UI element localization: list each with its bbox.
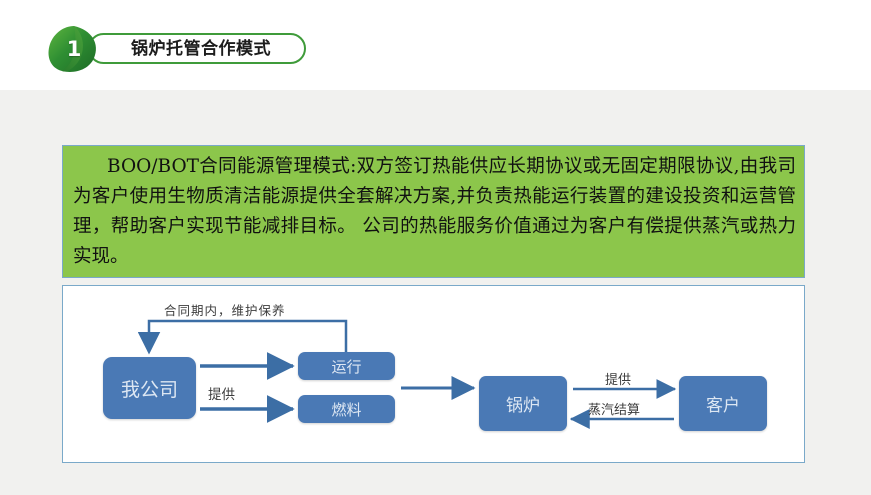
node-customer-label: 客户	[706, 391, 740, 416]
node-my-company[interactable]: 我公司	[103, 357, 196, 419]
node-operation-label: 运行	[331, 356, 361, 377]
summary-box: BOO/BOT合同能源管理模式:双方签订热能供应长期协议或无固定期限协议,由我司…	[62, 145, 805, 278]
edge-label-supply-left: 提供	[208, 383, 235, 403]
node-fuel[interactable]: 燃料	[298, 395, 395, 423]
slide-header: 1 锅炉托管合作模式	[44, 24, 324, 74]
edge-label-supply-right: 提供	[605, 369, 631, 388]
summary-paragraph: BOO/BOT合同能源管理模式:双方签订热能供应长期协议或无固定期限协议,由我司…	[73, 152, 796, 272]
node-boiler-label: 锅炉	[506, 391, 540, 416]
node-fuel-label: 燃料	[331, 399, 361, 420]
node-my-company-label: 我公司	[121, 375, 178, 402]
node-boiler[interactable]: 锅炉	[479, 376, 567, 431]
page-title: 锅炉托管合作模式	[96, 37, 306, 61]
node-operation[interactable]: 运行	[298, 352, 395, 380]
process-diagram: 我公司 运行 燃料 锅炉 客户 合同期内，维护保养 提供 提供 蒸汽结算	[62, 285, 805, 463]
diagram-canvas: 我公司 运行 燃料 锅炉 客户 合同期内，维护保养 提供 提供 蒸汽结算	[63, 286, 804, 462]
node-customer[interactable]: 客户	[679, 376, 767, 431]
edge-label-steam-settlement: 蒸汽结算	[588, 399, 640, 418]
slide-number: 1	[44, 24, 102, 74]
edge-label-contract-maintenance: 合同期内，维护保养	[164, 300, 286, 319]
